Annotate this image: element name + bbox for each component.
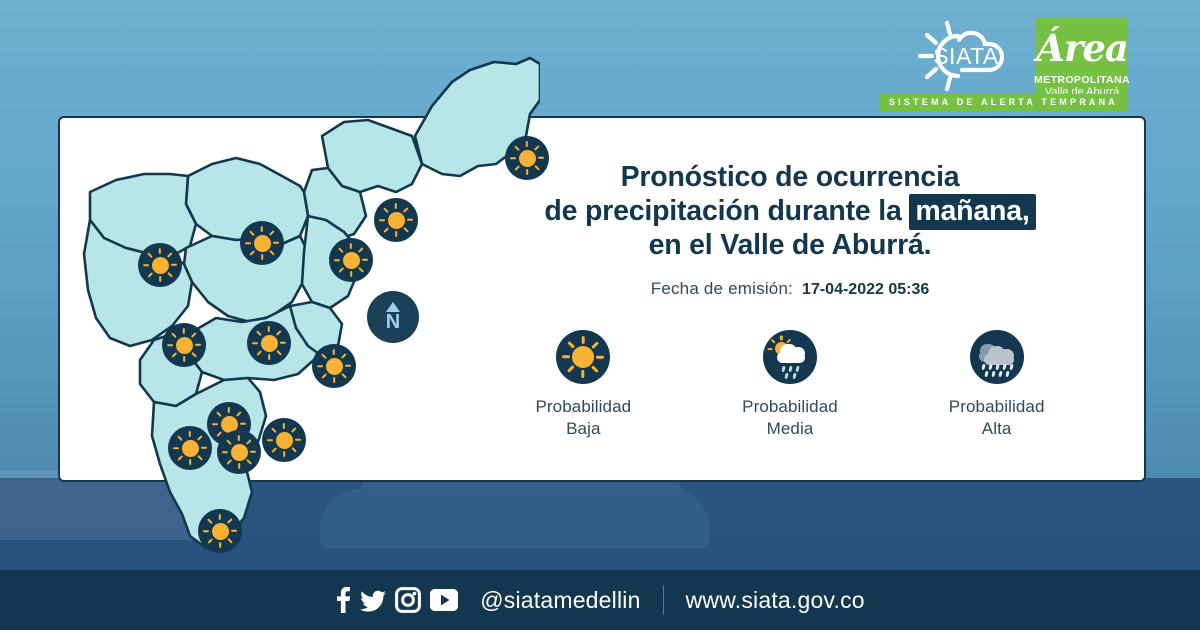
facebook-icon[interactable] [335,587,351,613]
sun-icon [182,440,199,457]
siata-logo: SIATA [906,18,1026,92]
forecast-panel: Pronóstico de ocurrencia de precipitació… [470,160,1110,299]
social-handle[interactable]: @siatamedellin [480,587,640,614]
sun-icon [261,335,278,352]
legend-item-baja: Probabilidad Baja [498,330,668,440]
sun-core [572,346,594,368]
cloud-rain-icon [970,330,1024,384]
title-line-2: de precipitación durante la mañana, [470,194,1110,228]
sun-cloud-rain-icon [763,330,817,384]
footer-bar: @siatamedellin www.siata.gov.co [0,570,1200,630]
cloud-front-puff-right [999,349,1014,363]
marker-la-estrella[interactable] [168,426,212,470]
marker-guarne[interactable] [312,344,356,388]
legend-item-media: Probabilidad Media [705,330,875,440]
siata-wordmark: SIATA [933,43,999,69]
compass-label: N [386,313,400,332]
twitter-icon[interactable] [360,587,386,613]
sun-icon [254,235,271,252]
title-highlight-period: mañana, [909,194,1035,230]
footer-content: @siatamedellin www.siata.gov.co [335,585,865,615]
marker-caldas[interactable] [198,509,242,553]
legend-label-baja-line2: Baja [498,418,668,440]
probability-legend: Probabilidad Baja [480,330,1100,440]
compass-north-icon: N [367,291,419,343]
legend-label-alta-line2: Alta [912,418,1082,440]
sun-icon [152,257,169,274]
sun-icon [276,432,293,449]
marker-bello[interactable] [240,221,284,265]
marker-sabaneta[interactable] [262,418,306,462]
tagline-banner: SISTEMA DE ALERTA TEMPRANA [879,94,1128,111]
legend-label-baja-line1: Probabilidad [498,396,668,418]
sun-icon [231,444,248,461]
youtube-icon[interactable] [430,589,458,611]
title-line-2-text: de precipitación durante la [544,195,901,227]
marker-medellin[interactable] [247,321,291,365]
legend-label-media: Probabilidad Media [705,396,875,440]
legend-label-baja: Probabilidad Baja [498,396,668,440]
instagram-icon[interactable] [395,587,421,613]
sun-cloud-icon: SIATA [906,18,1026,92]
title-line-1: Pronóstico de ocurrencia [470,160,1110,194]
legend-label-media-line2: Media [705,418,875,440]
legend-label-alta: Probabilidad Alta [912,396,1082,440]
marker-west[interactable] [162,323,206,367]
logo-group: SIATA Área METROPOLITANA Valle de Aburrá [906,18,1128,104]
area-metropolitana-logo: Área METROPOLITANA Valle de Aburrá [1036,18,1128,104]
sun-icon [326,358,343,375]
area-script-wordmark: Área [1036,20,1128,76]
sun-icon [176,337,193,354]
social-icons [335,587,458,613]
sun-icon [388,212,405,229]
marker-girardota[interactable] [374,198,418,242]
map-polygons [60,40,540,570]
infographic-canvas: SIATA Área METROPOLITANA Valle de Aburrá… [0,0,1200,630]
sun-icon [212,523,229,540]
issue-date-label: Fecha de emisión: [651,279,793,299]
issue-date: Fecha de emisión: 17-04-2022 05:36 [470,279,1110,299]
website-url[interactable]: www.siata.gov.co [686,587,865,614]
legend-label-media-line1: Probabilidad [705,396,875,418]
title-line-3: en el Valle de Aburrá. [470,228,1110,262]
cloud-puff-right [791,347,805,360]
legend-label-alta-line1: Probabilidad [912,396,1082,418]
marker-northwest[interactable] [138,243,182,287]
page-title: Pronóstico de ocurrencia de precipitació… [470,160,1110,262]
valle-de-aburra-map: N [60,40,540,570]
marker-envigado[interactable] [217,430,261,474]
marker-copacabana[interactable] [329,238,373,282]
sun-icon [343,252,360,269]
footer-divider [663,585,664,615]
legend-item-alta: Probabilidad Alta [912,330,1082,440]
issue-date-value: 17-04-2022 05:36 [802,281,929,299]
sun-icon [556,330,610,384]
